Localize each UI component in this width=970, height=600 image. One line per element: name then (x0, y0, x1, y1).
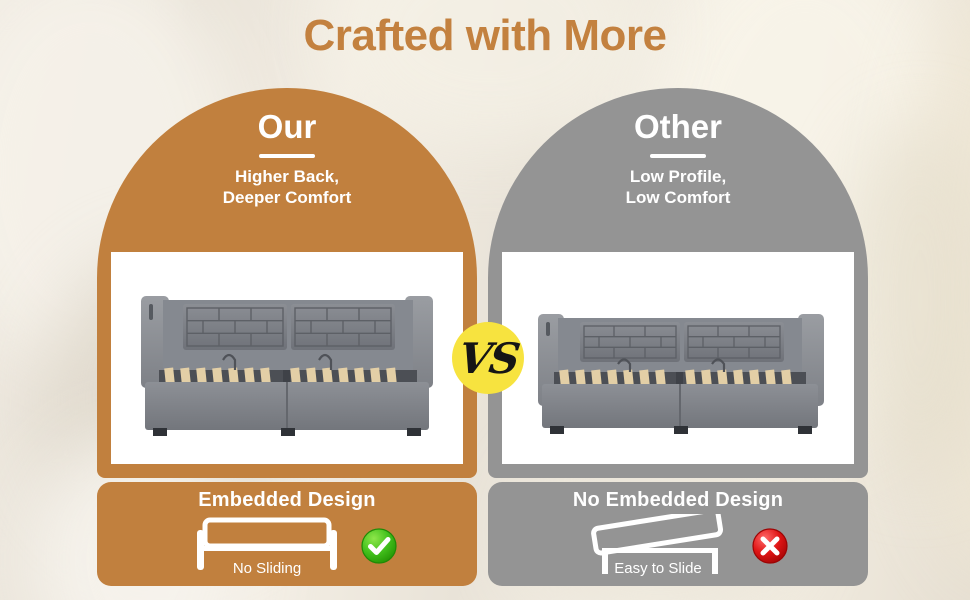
card-subheading-other-line2: Low Comfort (488, 187, 868, 208)
feature-caption-our: Embedded Design (97, 482, 477, 512)
card-header-our: Our Higher Back, Deeper Comfort (97, 110, 477, 208)
vs-badge: VS (452, 322, 524, 394)
card-subheading-other-line1: Low Profile, (488, 166, 868, 187)
comparison-card-other: Other Low Profile, Low Comfort (488, 88, 868, 478)
card-heading-our: Our (97, 110, 477, 145)
product-photo-other (502, 252, 854, 464)
vs-label: VS (455, 334, 521, 383)
feature-row-other: Easy to Slide (488, 512, 868, 584)
comparison-card-our: Our Higher Back, Deeper Comfort (97, 88, 477, 478)
feature-caption-other: No Embedded Design (488, 482, 868, 512)
feature-bar-our: Embedded Design No Sliding (97, 482, 477, 586)
card-heading-other: Other (488, 110, 868, 145)
page-title: Crafted with More (0, 11, 970, 61)
divider-rule (259, 154, 315, 158)
feature-note-our: No Sliding (187, 560, 347, 577)
feature-note-other: Easy to Slide (578, 560, 738, 577)
divider-rule (650, 154, 706, 158)
card-subheading-our-line2: Deeper Comfort (97, 187, 477, 208)
card-subheading-our-line1: Higher Back, (97, 166, 477, 187)
cross-icon (750, 526, 790, 566)
feature-bar-other: No Embedded Design Easy to Slide (488, 482, 868, 586)
card-header-other: Other Low Profile, Low Comfort (488, 110, 868, 208)
feature-row-our: No Sliding (97, 512, 477, 584)
check-icon (359, 526, 399, 566)
product-photo-our (111, 252, 463, 464)
